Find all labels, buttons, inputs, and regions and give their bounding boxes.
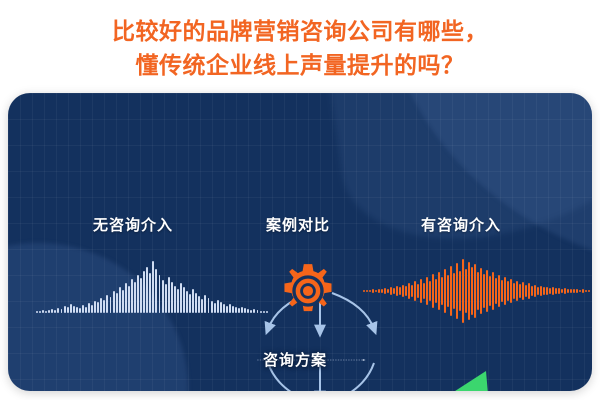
waveform-bar — [241, 307, 243, 313]
waveform-bar — [573, 289, 575, 292]
waveform-bar — [143, 271, 145, 313]
gear-icon-top — [280, 263, 336, 319]
waveform-bar — [426, 277, 428, 305]
waveform-bar — [128, 286, 130, 313]
waveform-bar — [570, 289, 572, 294]
waveform-bar — [402, 285, 404, 298]
waveform-bar — [405, 286, 407, 295]
waveform-bar — [459, 271, 461, 311]
waveform-bar — [468, 262, 470, 321]
waveform-bar — [140, 278, 142, 313]
waveform-bar — [235, 307, 237, 313]
waveform-bar — [257, 310, 259, 313]
waveform-bar — [217, 300, 219, 313]
waveform-bar — [516, 281, 518, 302]
waveform-bar — [585, 290, 587, 293]
waveform-bar — [558, 288, 560, 294]
waveform-bar — [253, 309, 255, 313]
waveform-bar — [103, 300, 105, 313]
waveform-bar — [180, 283, 182, 313]
waveform-bar — [177, 289, 179, 313]
waveform-bar — [522, 282, 524, 300]
waveform-bar — [501, 280, 503, 303]
waveform-bar — [531, 286, 533, 296]
waveform-bar — [438, 272, 440, 311]
section-label-right: 有咨询介入 — [421, 214, 501, 235]
waveform-bar — [393, 288, 395, 294]
waveform-bar — [546, 287, 548, 296]
waveform-bar — [366, 290, 368, 293]
plan-label: 咨询方案 — [263, 349, 327, 370]
waveform-bar — [462, 259, 464, 323]
waveform-bar — [174, 286, 176, 313]
waveform-bar — [232, 306, 234, 313]
waveform-bar — [119, 287, 121, 313]
waveform-bar — [146, 267, 148, 313]
waveform-bar — [134, 282, 136, 313]
waveform-bar — [192, 289, 194, 313]
waveform-bar — [152, 261, 154, 313]
waveform-bar — [70, 304, 72, 313]
waveform-bar — [45, 311, 47, 313]
waveform-bar — [201, 299, 203, 313]
waveform-top-right — [363, 259, 591, 323]
waveform-bar — [162, 280, 164, 313]
waveform-bar — [183, 287, 185, 313]
waveform-bar — [576, 289, 578, 293]
waveform-bar — [238, 308, 240, 313]
waveform-bar — [67, 307, 69, 313]
waveform-bar — [48, 310, 50, 313]
waveform-bar — [435, 279, 437, 303]
waveform-bar — [456, 263, 458, 319]
waveform-bar — [131, 279, 133, 313]
waveform-bar — [564, 288, 566, 293]
waveform-bar — [165, 284, 167, 313]
waveform-bar — [519, 284, 521, 298]
waveform-bar — [465, 269, 467, 313]
waveform-bar — [57, 308, 59, 313]
waveform-top-left — [36, 261, 268, 313]
waveform-bar — [396, 286, 398, 296]
waveform-bar — [534, 285, 536, 298]
waveform-bar — [486, 270, 488, 311]
waveform-bar — [100, 298, 102, 313]
waveform-bar — [266, 311, 268, 313]
waveform-bar — [420, 279, 422, 302]
waveform-bar — [110, 297, 112, 313]
waveform-bar — [189, 294, 191, 313]
waveform-bar — [423, 283, 425, 300]
waveform-bar — [453, 273, 455, 309]
waveform-bar — [155, 269, 157, 313]
waveform-bar — [208, 298, 210, 313]
waveform-bar — [211, 301, 213, 313]
waveform-bar — [61, 309, 63, 313]
waveform-bar — [507, 281, 509, 300]
waveform-bar — [244, 308, 246, 313]
waveform-bar — [204, 295, 206, 313]
waveform-bar — [195, 293, 197, 313]
infographic-panel: 无咨询介入 案例对比 有咨询介入 — [8, 93, 592, 391]
waveform-bar — [64, 306, 66, 313]
waveform-bar — [567, 289, 569, 293]
waveform-bar — [171, 282, 173, 313]
waveform-bar — [480, 268, 482, 315]
section-label-left: 无咨询介入 — [93, 214, 173, 235]
waveform-bar — [82, 305, 84, 313]
waveform-bar — [39, 311, 41, 313]
waveform-bar — [94, 301, 96, 313]
waveform-bar — [441, 277, 443, 305]
waveform-bar — [477, 272, 479, 311]
waveform-bar — [525, 285, 527, 297]
waveform-bar — [528, 283, 530, 298]
waveform-bar — [372, 289, 374, 292]
waveform-bar — [384, 288, 386, 294]
background-grid — [8, 93, 592, 391]
waveform-bar — [113, 291, 115, 313]
waveform-bar — [363, 290, 365, 292]
waveform-bar — [387, 289, 389, 294]
waveform-bar — [489, 276, 491, 305]
waveform-bar — [504, 277, 506, 305]
waveform-bar — [549, 288, 551, 294]
waveform-bar — [79, 308, 81, 313]
waveform-bar — [36, 311, 38, 313]
waveform-bar — [73, 306, 75, 313]
waveform-bar — [106, 295, 108, 313]
waveform-bar — [375, 290, 377, 293]
waveform-bar — [555, 288, 557, 293]
waveform-bar — [214, 303, 216, 313]
waveform-bar — [220, 302, 222, 313]
waveform-bar — [88, 303, 90, 313]
waveform-bar — [247, 309, 249, 313]
waveform-bar — [483, 274, 485, 307]
background-blob-right — [382, 93, 592, 273]
waveform-bar — [411, 285, 413, 296]
waveform-bar — [226, 306, 228, 313]
waveform-bar — [263, 311, 265, 313]
waveform-bar — [432, 274, 434, 307]
waveform-bar — [540, 286, 542, 297]
waveform-bar — [137, 275, 139, 313]
waveform-bar — [122, 290, 124, 313]
waveform-bar — [198, 296, 200, 313]
waveform-bar — [369, 290, 371, 292]
poster-root: 比较好的品牌营销咨询公司有哪些， 懂传统企业线上声量提升的吗？ 无咨询介入 案例… — [0, 0, 600, 400]
waveform-bar — [54, 310, 56, 313]
waveform-bar — [471, 267, 473, 315]
waveform-bar — [543, 287, 545, 294]
waveform-bar — [447, 275, 449, 307]
waveform-bar — [223, 304, 225, 313]
title-line-2: 懂传统企业线上声量提升的吗？ — [0, 48, 600, 82]
waveform-bar — [513, 283, 515, 300]
waveform-bar — [390, 287, 392, 295]
title-line-1: 比较好的品牌营销咨询公司有哪些， — [0, 14, 600, 48]
waveform-bar — [414, 281, 416, 300]
waveform-bar — [97, 302, 99, 313]
waveform-bar — [552, 287, 554, 294]
waveform-bar — [91, 305, 93, 313]
waveform-bar — [450, 266, 452, 316]
waveform-bar — [498, 275, 500, 307]
waveform-bar — [588, 290, 590, 292]
waveform-bar — [582, 289, 584, 292]
waveform-bar — [378, 289, 380, 294]
growth-arrow-icon — [390, 365, 500, 391]
waveform-bar — [250, 310, 252, 313]
waveform-bar — [168, 277, 170, 313]
waveform-bar — [125, 283, 127, 313]
waveform-bar — [186, 291, 188, 313]
waveform-bar — [561, 289, 563, 294]
waveform-bar — [149, 273, 151, 313]
waveform-bar — [51, 309, 53, 313]
waveform-bar — [408, 283, 410, 299]
waveform-bar — [429, 281, 431, 301]
waveform-bar — [444, 269, 446, 313]
waveform-bar — [474, 264, 476, 317]
waveform-bar — [495, 278, 497, 303]
section-label-middle: 案例对比 — [266, 214, 330, 235]
waveform-bar — [537, 287, 539, 296]
waveform-bar — [42, 310, 44, 313]
waveform-bar — [159, 275, 161, 313]
waveform-bar — [399, 287, 401, 295]
waveform-bar — [76, 307, 78, 313]
waveform-bar — [229, 304, 231, 313]
waveform-bar — [417, 284, 419, 298]
waveform-bar — [85, 307, 87, 313]
waveform-bar — [510, 279, 512, 303]
waveform-bar — [116, 293, 118, 313]
waveform-bar — [492, 272, 494, 309]
page-title: 比较好的品牌营销咨询公司有哪些， 懂传统企业线上声量提升的吗？ — [0, 14, 600, 82]
waveform-bar — [579, 290, 581, 293]
waveform-bar — [260, 311, 262, 313]
waveform-bar — [381, 289, 383, 292]
